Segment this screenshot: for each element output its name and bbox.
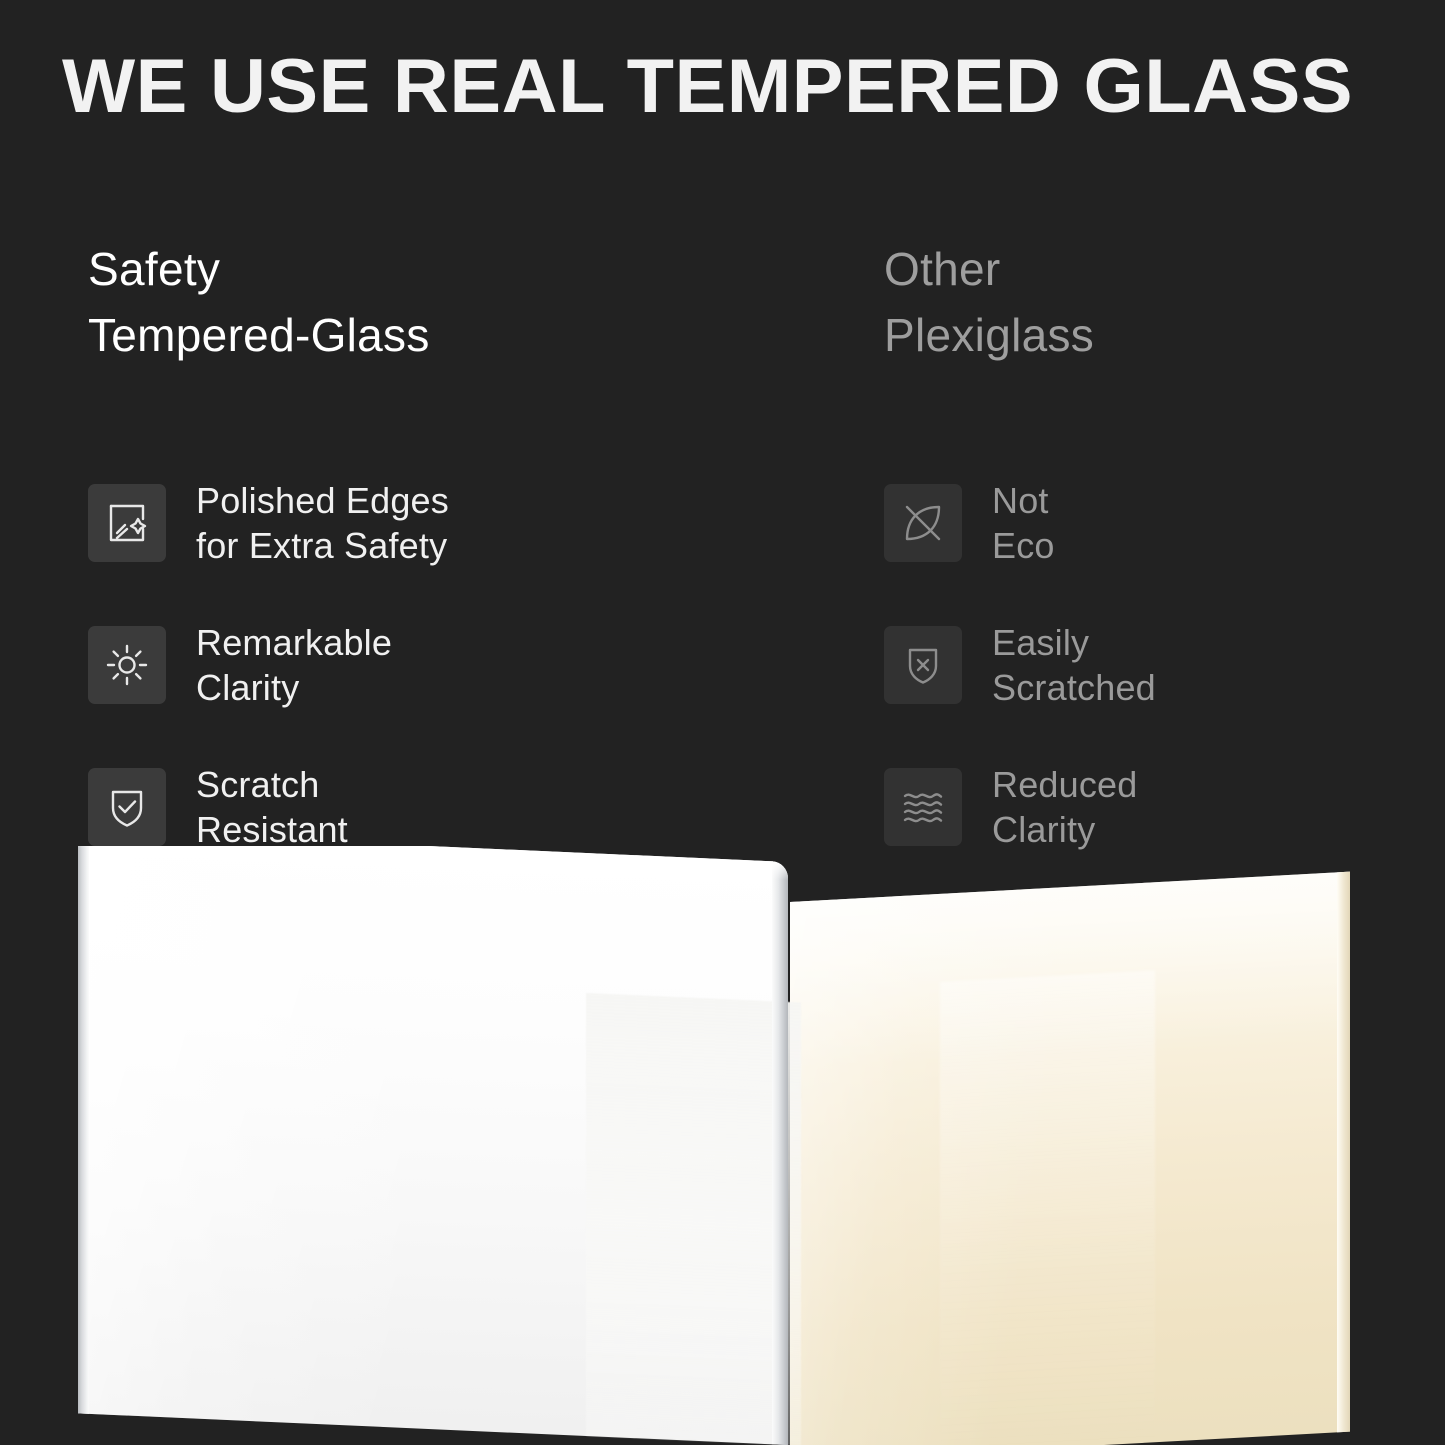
feature-label: Scratch Resistant bbox=[196, 762, 348, 852]
feature-label: Remarkable Clarity bbox=[196, 620, 392, 710]
glass-polished-right-edge bbox=[772, 861, 788, 1445]
column-title-line1: Other bbox=[884, 236, 1404, 302]
promo-banner: WE USE REAL TEMPERED GLASS Safety Temper… bbox=[0, 0, 1445, 1445]
feature-label: Easily Scratched bbox=[992, 620, 1156, 710]
feature-item: Easily Scratched bbox=[884, 594, 1404, 736]
feature-item: Not Eco bbox=[884, 452, 1404, 594]
product-photo bbox=[0, 846, 1445, 1445]
plexiglass-reflection bbox=[940, 970, 1155, 1445]
tempered-glass-panel bbox=[78, 846, 788, 1445]
column-title-line2: Tempered-Glass bbox=[88, 302, 788, 368]
glass-reflection bbox=[586, 993, 801, 1445]
comparison-column-tempered-glass: Safety Tempered-Glass Polished Edges for… bbox=[88, 236, 788, 368]
feature-item: Polished Edges for Extra Safety bbox=[88, 452, 788, 594]
comparison-column-plexiglass: Other Plexiglass Not Eco bbox=[884, 236, 1404, 368]
wavy-lines-icon bbox=[884, 768, 962, 846]
column-title-line2: Plexiglass bbox=[884, 302, 1404, 368]
glass-polished-left-edge bbox=[78, 846, 89, 1414]
sun-brightness-icon bbox=[88, 626, 166, 704]
plexiglass-panel bbox=[790, 872, 1350, 1445]
feature-label: Reduced Clarity bbox=[992, 762, 1138, 852]
shield-check-icon bbox=[88, 768, 166, 846]
polished-pane-sparkle-icon bbox=[88, 484, 166, 562]
feature-list-right: Not Eco Easily Scratched bbox=[884, 452, 1404, 878]
feature-label: Not Eco bbox=[992, 478, 1055, 568]
shield-x-icon bbox=[884, 626, 962, 704]
page-title: WE USE REAL TEMPERED GLASS bbox=[62, 44, 1419, 130]
column-title-line1: Safety bbox=[88, 236, 788, 302]
feature-item: Remarkable Clarity bbox=[88, 594, 788, 736]
plexiglass-edge bbox=[1337, 872, 1350, 1433]
feature-label: Polished Edges for Extra Safety bbox=[196, 478, 449, 568]
feature-list-left: Polished Edges for Extra Safety Remarkab… bbox=[88, 452, 788, 878]
leaf-crossed-out-icon bbox=[884, 484, 962, 562]
